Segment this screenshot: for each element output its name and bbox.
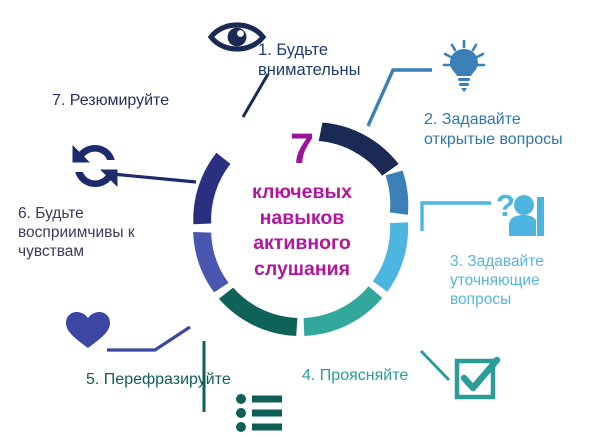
step-label-6[interactable]: 6. Будьте восприимчивы к чувствам [18,205,135,262]
step-label-3[interactable]: 3. Задавайте уточняющие вопросы [450,253,544,310]
svg-text:?: ? [496,188,515,223]
connector-1 [243,74,268,117]
refresh-cycle-icon[interactable] [73,145,118,187]
ring-segment-5[interactable] [219,288,297,336]
ring-segment-7[interactable] [193,153,230,224]
ring-segment-2[interactable] [385,170,408,214]
step-label-2[interactable]: 2. Задавайте открытые вопросы [424,110,563,149]
connector-6 [107,327,190,350]
connector-4 [421,351,449,380]
step-label-7[interactable]: 7. Резюмируйте [52,91,169,111]
centre-caption: ключевых навыков активного слушания [228,180,376,282]
bullet-list-icon[interactable] [236,394,282,432]
ring-segment-6[interactable] [193,232,228,292]
connector-3 [422,203,491,231]
centre-number: 7 [228,128,376,171]
connector-2 [368,70,432,126]
lightbulb-icon[interactable] [444,41,484,92]
ring-segment-3[interactable] [373,222,408,292]
connector-7 [112,174,196,182]
eye-icon[interactable] [211,25,263,49]
step-label-4[interactable]: 4. Проясняйте [302,366,408,386]
ring-segment-4[interactable] [304,286,383,336]
step-label-1[interactable]: 1. Будьте внимательны [258,40,360,80]
infographic-canvas: ? 7 ключевых н [0,0,600,436]
step-label-5[interactable]: 5. Перефразируйте [86,370,231,390]
checkbox-checked-icon[interactable] [457,360,497,397]
heart-icon[interactable] [66,312,110,348]
person-raised-hand-question-icon[interactable]: ? [496,188,544,236]
centre-text-block: 7 ключевых навыков активного слушания [228,128,376,282]
